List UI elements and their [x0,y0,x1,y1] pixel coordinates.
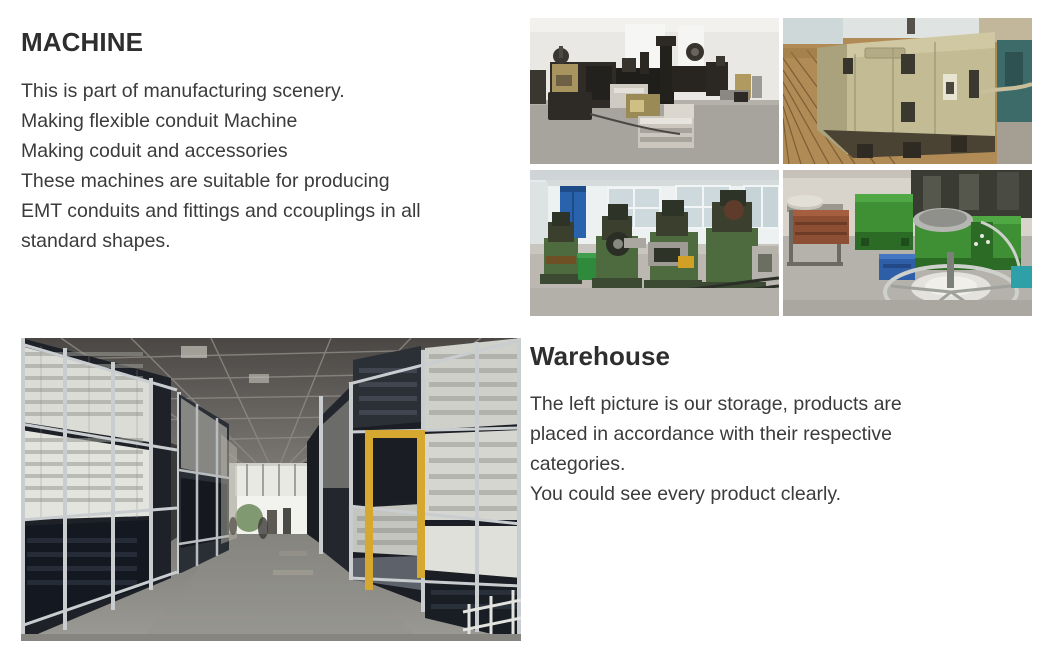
green-coiling-machines-photo [783,170,1032,316]
warehouse-text-block: Warehouse The left picture is our storag… [530,342,1030,509]
warehouse-aisle-photo [21,338,521,641]
machine-description: This is part of manufacturing scenery. M… [21,76,516,256]
factory-floor-machinery-photo [530,18,779,164]
warehouse-heading: Warehouse [530,342,1030,371]
beige-machine-on-timber-floor-photo [783,18,1032,164]
machine-photo-grid [530,18,1032,316]
warehouse-description: The left picture is our storage, product… [530,389,1030,509]
green-punch-presses-photo [530,170,779,316]
machine-heading: MACHINE [21,28,516,57]
machine-text-block: MACHINE This is part of manufacturing sc… [21,28,516,256]
